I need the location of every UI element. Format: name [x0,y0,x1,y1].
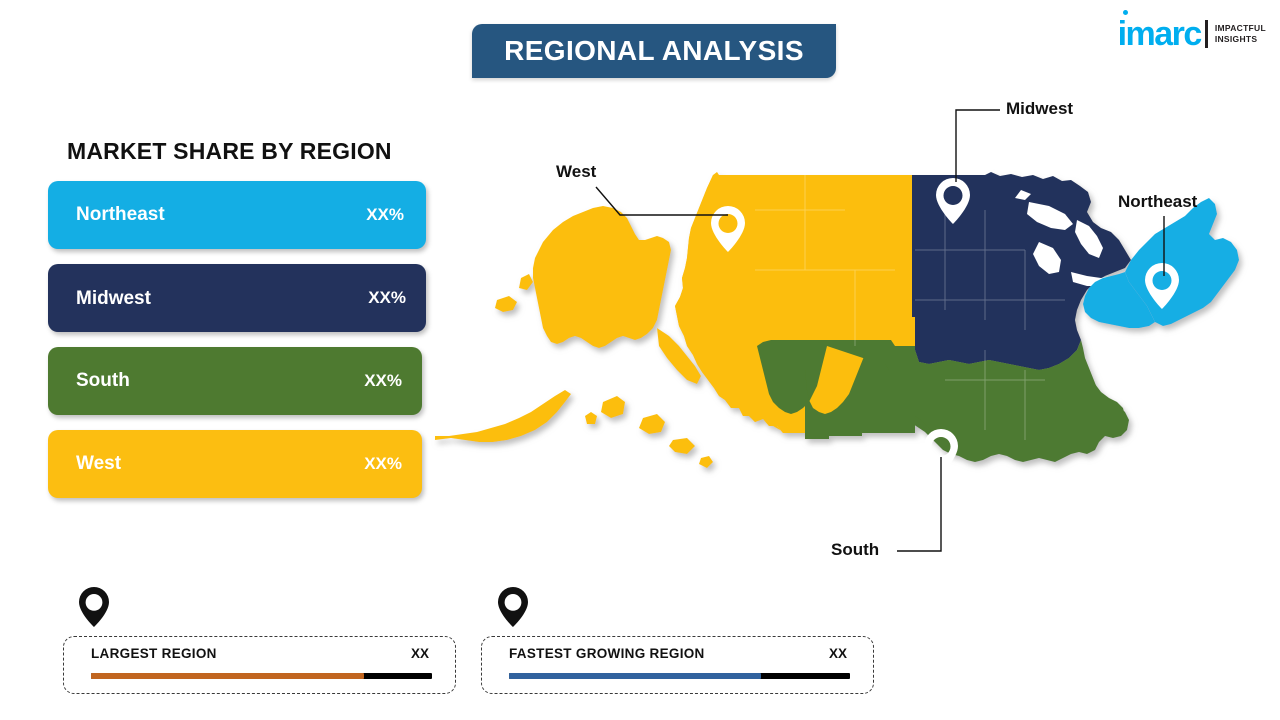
largest-region-pin-icon [77,586,111,628]
logo-tagline-line1: IMPACTFUL [1215,23,1266,34]
callout-label-south: South [831,540,879,560]
logo-dot-icon [1123,10,1128,15]
map-region-hawaii-3 [639,414,665,434]
us-regional-map [425,150,1280,570]
callout-label-northeast: Northeast [1118,192,1197,212]
legend-bar-south[interactable]: South XX% [48,347,422,415]
largest-region-progress-fill [91,673,364,679]
market-share-legend: Northeast XX% Midwest XX% South XX% West… [48,181,433,513]
map-region-hawaii-5 [699,456,713,468]
map-region-hawaii-2 [601,396,625,418]
legend-bar-label: Midwest [76,286,368,310]
logo-divider [1205,20,1208,48]
page-title-banner: REGIONAL ANALYSIS [472,24,836,78]
market-share-heading: MARKET SHARE BY REGION [67,138,392,165]
page-title: REGIONAL ANALYSIS [504,35,804,67]
fastest-growing-region-progress-track [509,673,850,679]
fastest-growing-region-pin-icon [496,586,530,628]
map-region-alaska [533,206,671,348]
map-region-hawaii-4 [669,438,695,454]
legend-bar-west[interactable]: West XX% [48,430,422,498]
legend-bar-midwest[interactable]: Midwest XX% [48,264,426,332]
callout-label-midwest: Midwest [1006,99,1073,119]
legend-bar-value: XX% [364,371,402,391]
largest-region-card: LARGEST REGION XX [63,636,456,694]
largest-region-progress-track [91,673,432,679]
logo-tagline: IMPACTFUL INSIGHTS [1215,23,1266,46]
legend-bar-value: XX% [366,205,404,225]
legend-bar-value: XX% [368,288,406,308]
largest-region-title: LARGEST REGION [91,646,217,661]
legend-bar-label: South [76,370,364,392]
legend-bar-label: Northeast [76,204,366,226]
fastest-growing-region-card: FASTEST GROWING REGION XX [481,636,874,694]
largest-region-value: XX [411,646,429,661]
logo-wordmark: imarc [1118,17,1201,51]
map-region-hawaii [585,412,597,424]
fastest-growing-region-title: FASTEST GROWING REGION [509,646,705,661]
fastest-growing-region-progress-fill [509,673,761,679]
callout-label-west: West [556,162,596,182]
map-pin-south [924,429,958,475]
logo-tagline-line2: INSIGHTS [1215,34,1266,45]
legend-bar-northeast[interactable]: Northeast XX% [48,181,426,249]
logo-wordmark-text: imarc [1118,15,1201,53]
legend-bar-value: XX% [364,454,402,474]
legend-bar-label: West [76,453,364,475]
imarc-logo: imarc IMPACTFUL INSIGHTS [1118,12,1266,56]
fastest-growing-region-value: XX [829,646,847,661]
